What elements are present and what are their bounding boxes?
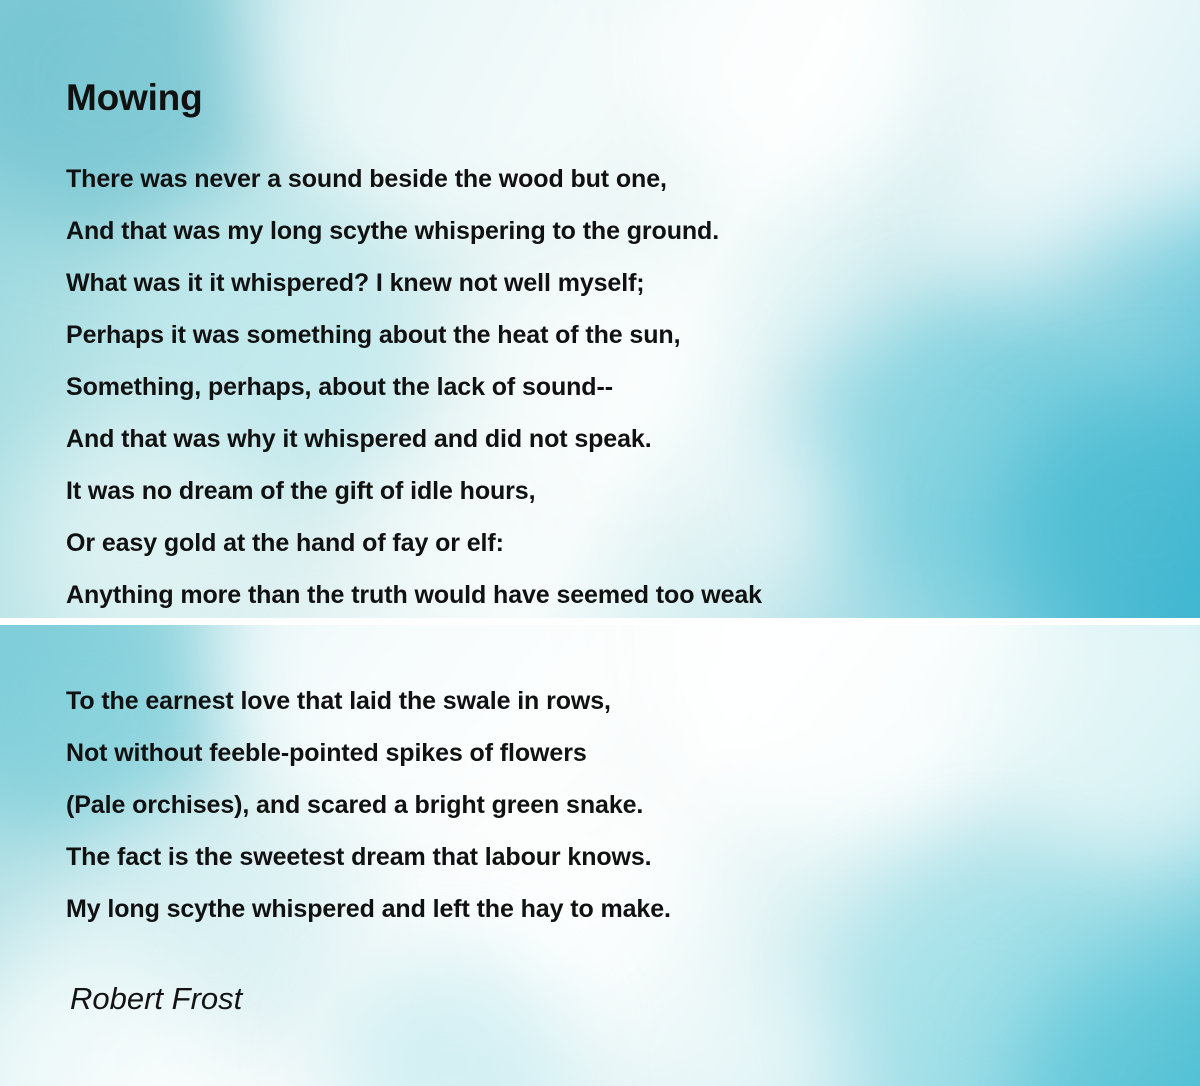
poem-stanza-two: To the earnest love that laid the swale … bbox=[66, 675, 671, 935]
poem-panel-bottom-content: To the earnest love that laid the swale … bbox=[0, 0, 1200, 1086]
poem-line: To the earnest love that laid the swale … bbox=[66, 675, 671, 727]
poem-card: Mowing There was never a sound beside th… bbox=[0, 0, 1200, 1086]
poem-line: Not without feeble-pointed spikes of flo… bbox=[66, 727, 671, 779]
poem-line: (Pale orchises), and scared a bright gre… bbox=[66, 779, 671, 831]
poem-line: My long scythe whispered and left the ha… bbox=[66, 883, 671, 935]
poem-author: Robert Frost bbox=[70, 980, 242, 1017]
poem-line: The fact is the sweetest dream that labo… bbox=[66, 831, 671, 883]
